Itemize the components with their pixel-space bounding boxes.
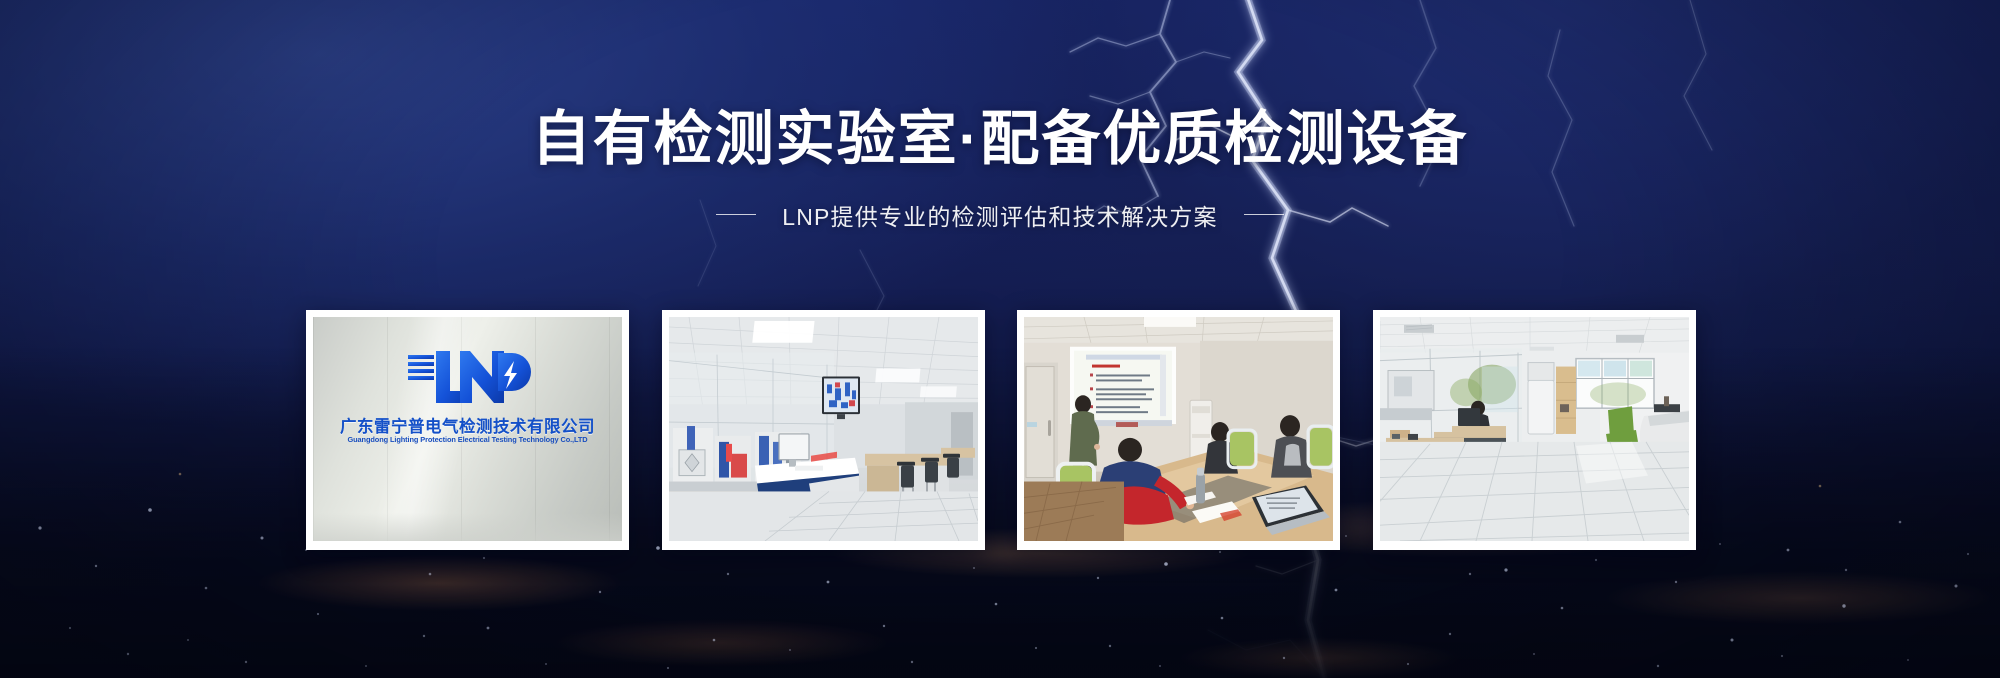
gallery-card-laboratory[interactable] (662, 310, 985, 550)
photo-meeting-room (1024, 317, 1333, 541)
photo-laboratory (669, 317, 978, 541)
gallery-card-logo-wall[interactable]: 广东雷宁普电气检测技术有限公司 Guangdong Lighting Prote… (306, 310, 629, 550)
photo-logo-wall: 广东雷宁普电气检测技术有限公司 Guangdong Lighting Prote… (313, 317, 622, 541)
logo-company-name-en: Guangdong Lighting Protection Electrical… (313, 435, 622, 444)
laboratory-illustration (669, 317, 978, 541)
wall-floor-shadow (313, 513, 622, 541)
photo-office (1380, 317, 1689, 541)
banner-subtitle: LNP提供专业的检测评估和技术解决方案 (782, 198, 1218, 232)
photo-gallery: 广东雷宁普电气检测技术有限公司 Guangdong Lighting Prote… (306, 310, 1696, 550)
logo-company-name-cn: 广东雷宁普电气检测技术有限公司 (313, 413, 622, 437)
meeting-room-illustration (1024, 317, 1333, 541)
banner-headline: 自有检测实验室·配备优质检测设备 (0, 108, 2000, 172)
hero-banner: 自有检测实验室·配备优质检测设备 LNP提供专业的检测评估和技术解决方案 (0, 0, 2000, 678)
gallery-card-meeting-room[interactable] (1017, 310, 1340, 550)
banner-text-block: 自有检测实验室·配备优质检测设备 LNP提供专业的检测评估和技术解决方案 (0, 108, 2000, 232)
rule-right-icon (1244, 214, 1284, 215)
office-illustration (1380, 317, 1689, 541)
banner-subtitle-row: LNP提供专业的检测评估和技术解决方案 (0, 198, 2000, 232)
lnp-logo-icon (402, 347, 534, 409)
rule-left-icon (716, 214, 756, 215)
gallery-card-office[interactable] (1373, 310, 1696, 550)
